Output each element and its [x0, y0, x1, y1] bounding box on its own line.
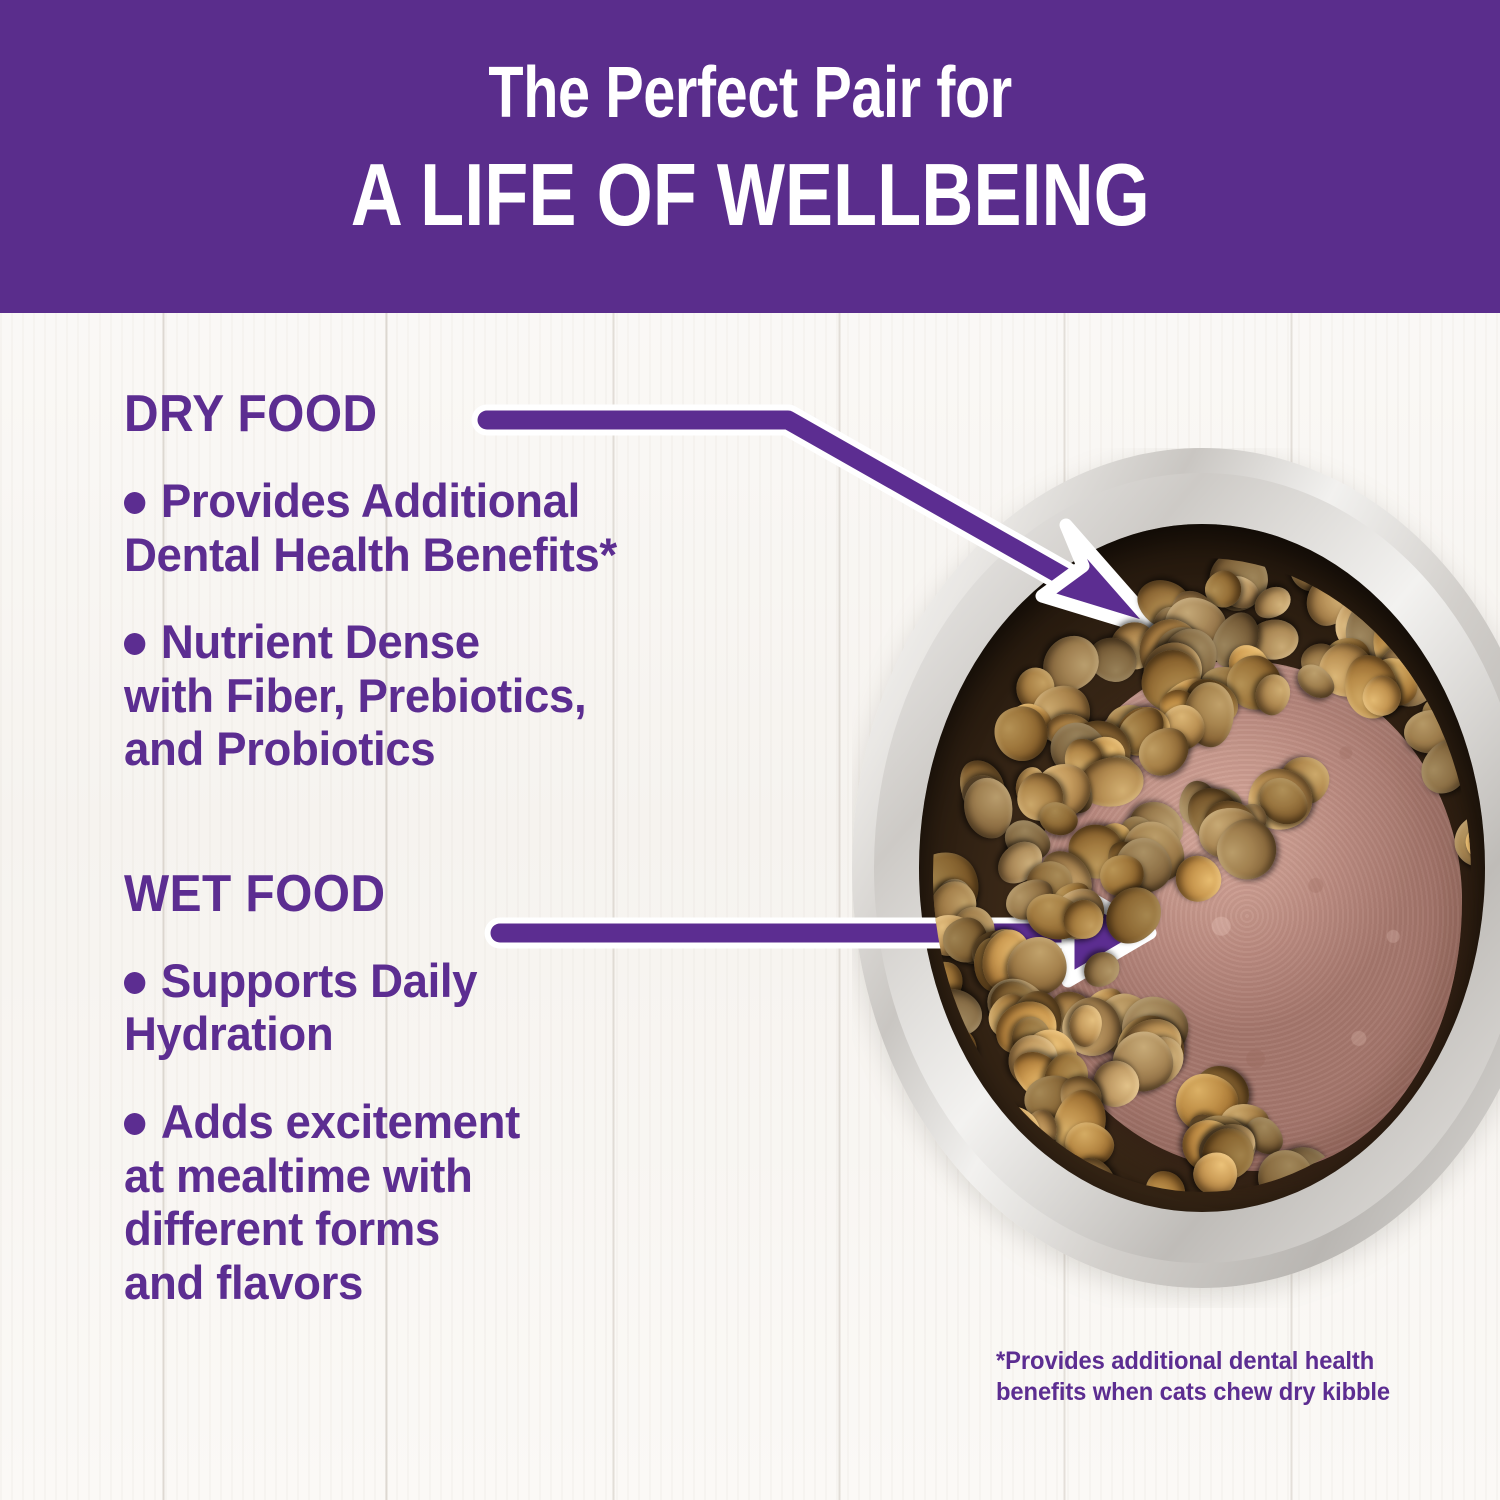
promo-infographic: The Perfect Pair for A LIFE OF WELLBEING…: [0, 0, 1500, 1500]
bullet-wet-2: Adds excitement at mealtime with differe…: [124, 1095, 803, 1309]
bowl-lip: [874, 473, 1500, 1263]
benefits-copy-column: DRY FOOD Provides Additional Dental Heal…: [124, 388, 824, 1309]
bullet-dry-1-text: Provides Additional Dental Health Benefi…: [124, 474, 617, 581]
bullet-dot-icon: [124, 972, 145, 994]
bullet-dry-2-text: Nutrient Dense with Fiber, Prebiotics, a…: [124, 615, 586, 775]
bullet-wet-2-text: Adds excitement at mealtime with differe…: [124, 1095, 520, 1309]
bullet-dot-icon: [124, 1113, 145, 1135]
section-title-dry-food: DRY FOOD: [124, 388, 768, 440]
header-banner: The Perfect Pair for A LIFE OF WELLBEING: [0, 0, 1500, 313]
footnote-disclaimer: *Provides additional dental health benef…: [996, 1346, 1405, 1407]
bullet-wet-1-text: Supports Daily Hydration: [124, 954, 477, 1061]
bullet-dry-1: Provides Additional Dental Health Benefi…: [124, 474, 803, 581]
bowl-outer-rim: [852, 448, 1500, 1288]
bowl-interior: [919, 524, 1485, 1213]
bullet-dot-icon: [124, 633, 145, 655]
bullet-dot-icon: [124, 492, 145, 514]
bullet-dry-2: Nutrient Dense with Fiber, Prebiotics, a…: [124, 615, 803, 776]
section-title-wet-food: WET FOOD: [124, 868, 768, 920]
header-title: A LIFE OF WELLBEING: [350, 151, 1149, 239]
pet-bowl-photo: [852, 448, 1500, 1308]
header-subtitle: The Perfect Pair for: [488, 57, 1011, 129]
bullet-wet-1: Supports Daily Hydration: [124, 954, 803, 1061]
kibble-piece: [1142, 1169, 1187, 1192]
